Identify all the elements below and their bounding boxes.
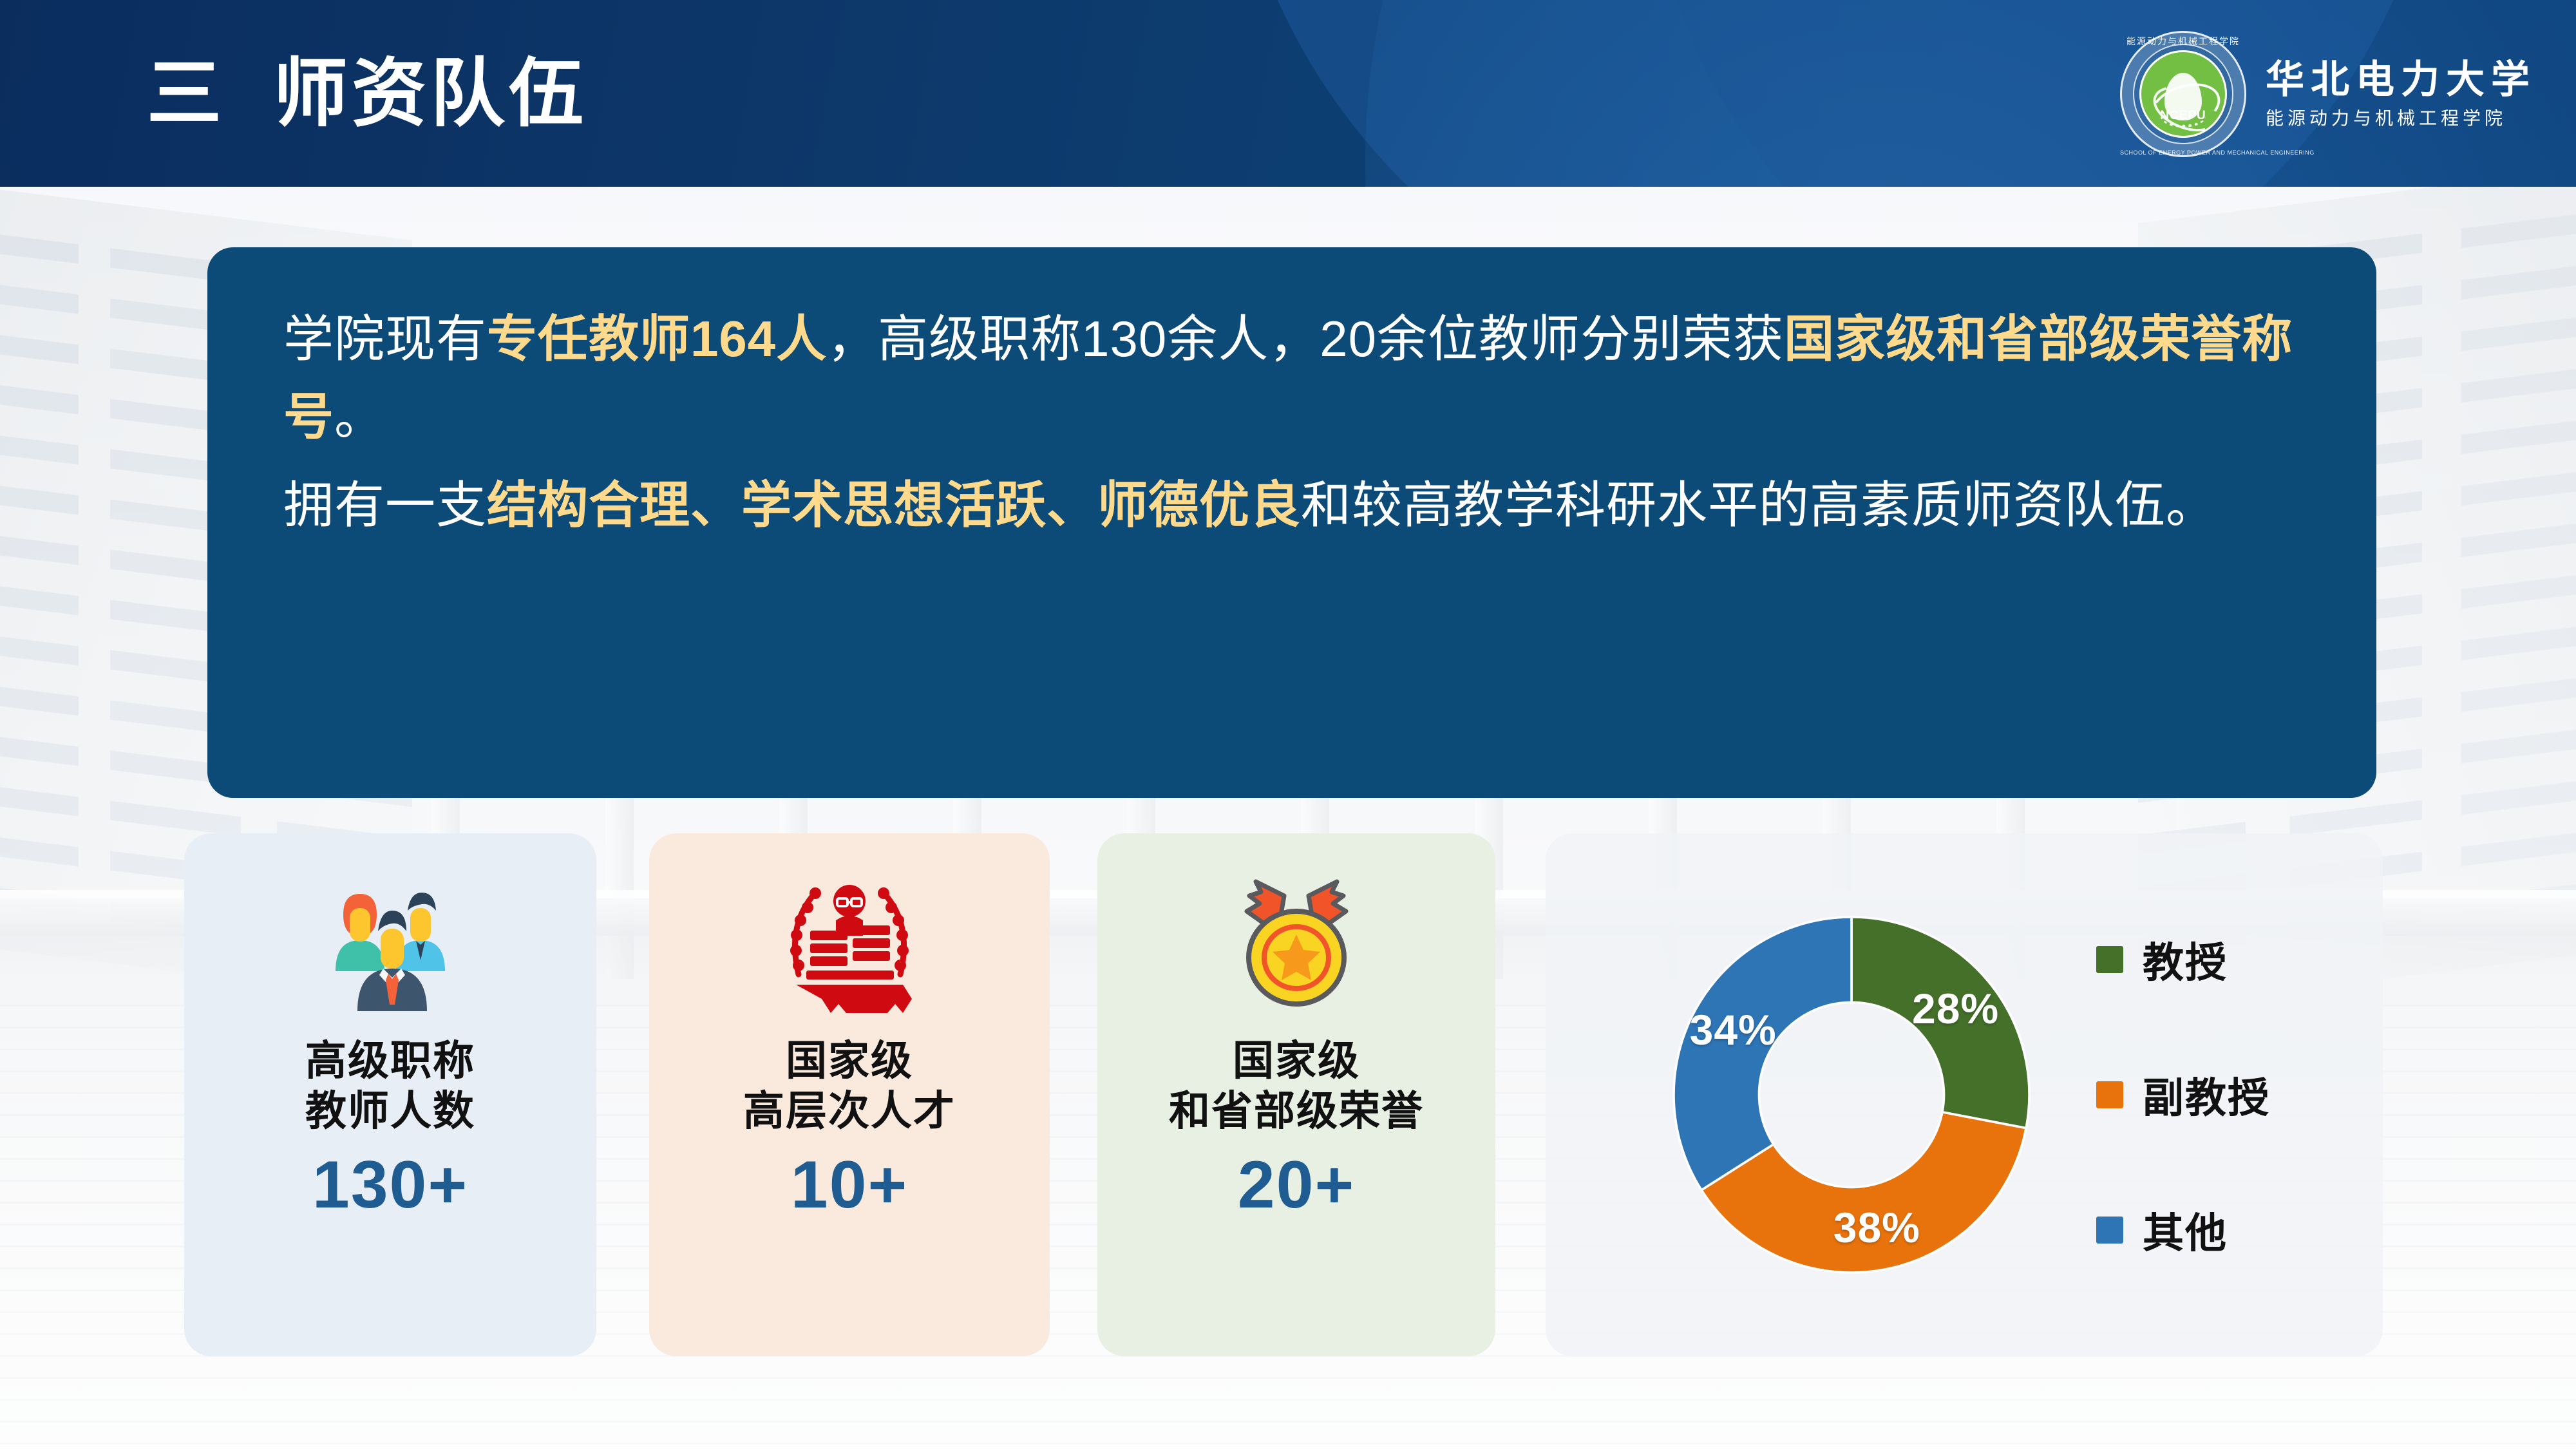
intro-panel: 学院现有专任教师164人，高级职称130余人，20余位教师分别荣获国家级和省部级… <box>207 247 2376 798</box>
page-title: 师资队伍 <box>273 56 587 131</box>
stat-card-label: 国家级 高层次人才 <box>743 1036 956 1136</box>
intro-paragraph-1: 学院现有专任教师164人，高级职称130余人，20余位教师分别荣获国家级和省部级… <box>283 300 2300 456</box>
stat-card-label-line2: 高层次人才 <box>743 1086 956 1136</box>
intro-plain-run: ，高级职称130余人，20余位教师分别荣获 <box>827 310 1784 367</box>
emblem-ring-bottom-text: SCHOOL OF ENERGY POWER AND MECHANICAL EN… <box>2120 149 2246 156</box>
university-name: 华北电力大学 <box>2266 61 2536 99</box>
legend-swatch-icon <box>2096 1217 2123 1244</box>
intro-plain-run: 和较高教学科研水平的高素质师资队伍。 <box>1301 477 2217 533</box>
stat-card-value: 130+ <box>312 1151 468 1218</box>
stat-card-value: 10+ <box>791 1151 908 1218</box>
legend-item-其他[interactable]: 其他 <box>2096 1200 2270 1260</box>
stat-card-value: 20+ <box>1238 1151 1355 1218</box>
donut-chart: 28%38%34% <box>1658 902 2045 1288</box>
stat-card-label: 国家级 和省部级荣誉 <box>1169 1036 1424 1136</box>
ncepu-emblem-icon: 能源动力与机械工程学院 SCHOOL OF ENERGY POWER AND M… <box>2120 31 2246 157</box>
page-header: 三 师资队伍 能源动力与机械工程学院 SCHOOL OF ENERGY POWE… <box>0 0 2576 187</box>
header-title-group: 三 师资队伍 <box>147 0 587 187</box>
intro-plain-run: 拥有一支 <box>283 477 487 533</box>
university-logo: 能源动力与机械工程学院 SCHOOL OF ENERGY POWER AND M… <box>2120 12 2536 176</box>
intro-highlight-run: 专任教师164人 <box>487 310 827 367</box>
legend-label: 教授 <box>2143 930 2228 989</box>
school-name: 能源动力与机械工程学院 <box>2266 109 2536 128</box>
legend-swatch-icon <box>2096 946 2123 973</box>
intro-plain-run: 学院现有 <box>283 310 487 367</box>
donut-slice-label-其他: 34% <box>1690 1005 1777 1054</box>
medal-icon <box>1222 859 1370 1032</box>
donut-slice-label-副教授: 38% <box>1833 1203 1920 1252</box>
logo-text-block: 华北电力大学 能源动力与机械工程学院 <box>2266 61 2536 128</box>
stat-card-label-line2: 和省部级荣誉 <box>1169 1086 1424 1136</box>
donut-slice-label-教授: 28% <box>1912 984 1999 1033</box>
legend-label: 其他 <box>2143 1200 2228 1260</box>
stat-card-label: 高级职称 教师人数 <box>305 1036 475 1136</box>
legend-item-副教授[interactable]: 副教授 <box>2096 1065 2270 1124</box>
stat-card-national-talents[interactable]: 国家级 高层次人才 10+ <box>649 833 1050 1356</box>
people-group-icon <box>316 859 464 1032</box>
stat-card-label-line1: 高级职称 <box>305 1036 475 1086</box>
stat-card-senior-titles[interactable]: 高级职称 教师人数 130+ <box>184 833 596 1356</box>
intro-paragraph-2: 拥有一支结构合理、学术思想活跃、师德优良和较高教学科研水平的高素质师资队伍。 <box>283 466 2300 544</box>
legend-swatch-icon <box>2096 1081 2123 1108</box>
intro-plain-run: 。 <box>334 388 385 445</box>
emblem-abbr: NCEPU <box>2139 109 2227 123</box>
chart-legend: 教授副教授其他 <box>2096 930 2270 1260</box>
section-number: 三 <box>147 56 223 131</box>
legend-label: 副教授 <box>2143 1065 2270 1124</box>
stat-card-label-line1: 国家级 <box>1169 1036 1424 1086</box>
stat-card-honors[interactable]: 国家级 和省部级荣誉 20+ <box>1097 833 1495 1356</box>
stat-card-label-line2: 教师人数 <box>305 1086 475 1136</box>
faculty-composition-chart-card[interactable]: 28%38%34% 教授副教授其他 <box>1546 833 2383 1356</box>
emblem-green-disc: NCEPU <box>2139 50 2227 138</box>
legend-item-教授[interactable]: 教授 <box>2096 930 2270 989</box>
laurel-books-scholar-icon <box>769 859 930 1032</box>
intro-highlight-run: 结构合理、学术思想活跃、师德优良 <box>487 477 1301 533</box>
stat-card-label-line1: 国家级 <box>743 1036 956 1086</box>
